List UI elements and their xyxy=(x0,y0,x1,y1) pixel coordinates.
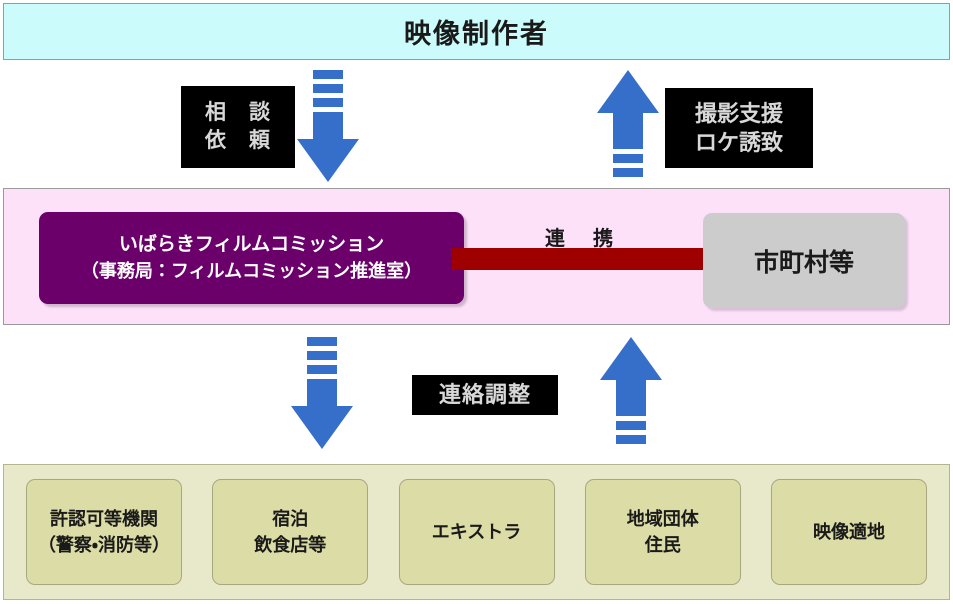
municipality-box: 市町村等 xyxy=(703,213,905,308)
film-commission-box: いばらきフィルムコミッション （事務局：フィルムコミッション推進室） xyxy=(39,212,464,304)
partner-label-line-2: 住民 xyxy=(645,532,681,558)
cooperation-connector-bar xyxy=(452,248,710,270)
partner-label-line-2: 飲食店等 xyxy=(254,532,326,558)
liaison-label-text: 連絡調整 xyxy=(439,380,531,409)
arrow-head xyxy=(597,70,659,113)
arrow-stripes xyxy=(600,407,662,449)
arrow-stripe xyxy=(307,337,337,346)
cooperation-label: 連 携 xyxy=(452,222,710,251)
arrow-stripe xyxy=(616,407,646,416)
support-label-line-2: ロケ誘致 xyxy=(695,128,783,157)
arrow-stripe xyxy=(307,351,337,360)
arrow-shaft xyxy=(313,112,343,139)
arrow-head xyxy=(297,139,359,182)
arrow-head xyxy=(600,337,662,380)
arrow-stripe xyxy=(307,365,337,374)
arrow-stripe xyxy=(616,421,646,430)
arrow-stripes xyxy=(597,140,659,182)
arrow-stripe xyxy=(613,168,643,177)
arrow-stripes xyxy=(291,337,353,379)
partner-label-line-1: 地域団体 xyxy=(627,506,699,532)
filming-support-label: 撮影支援 ロケ誘致 xyxy=(665,88,813,168)
arrow-stripe xyxy=(313,84,343,93)
arrow-stripe xyxy=(613,154,643,163)
arrow-head xyxy=(291,406,353,449)
partner-label-line-1: 許認可等機関 xyxy=(50,506,158,532)
partner-box-local-groups-residents: 地域団体 住民 xyxy=(585,479,741,585)
arrow-stripe xyxy=(613,140,643,149)
arrow-up-icon xyxy=(597,70,659,182)
partner-box-lodging-restaurants: 宿泊 飲食店等 xyxy=(212,479,368,585)
arrow-stripe xyxy=(616,435,646,444)
partner-box-extras: エキストラ xyxy=(399,479,555,585)
film-commission-office: （事務局：フィルムコミッション推進室） xyxy=(81,259,422,284)
partner-label-line-1: 映像適地 xyxy=(813,519,885,545)
arrow-shaft xyxy=(616,380,646,407)
partner-box-permitting-agencies: 許認可等機関 （警察・消防等） xyxy=(26,479,182,585)
arrow-down-icon xyxy=(291,337,353,449)
consult-request-label: 相 談 依 頼 xyxy=(181,86,295,168)
consult-label-line-1: 相 談 xyxy=(205,99,271,127)
liaison-coordination-label: 連絡調整 xyxy=(412,375,558,415)
film-commission-name: いばらきフィルムコミッション xyxy=(119,232,384,259)
arrow-stripes xyxy=(297,70,359,112)
arrow-shaft xyxy=(307,379,337,406)
partner-label-line-2: （警察・消防等） xyxy=(38,532,170,558)
support-label-line-1: 撮影支援 xyxy=(695,99,783,128)
consult-label-line-2: 依 頼 xyxy=(205,127,271,155)
arrow-stripe xyxy=(313,70,343,79)
arrow-stripe xyxy=(313,98,343,107)
arrow-shaft xyxy=(613,113,643,140)
partner-box-filming-locations: 映像適地 xyxy=(771,479,927,585)
arrow-down-icon xyxy=(297,70,359,182)
partner-label-line-1: 宿泊 xyxy=(272,506,308,532)
producer-banner: 映像制作者 xyxy=(3,3,950,60)
arrow-up-icon xyxy=(600,337,662,449)
partners-panel: 許認可等機関 （警察・消防等） 宿泊 飲食店等 エキストラ 地域団体 住民 映像… xyxy=(3,464,950,600)
partner-label-line-1: エキストラ xyxy=(432,519,521,545)
page-title: 映像制作者 xyxy=(404,12,549,51)
